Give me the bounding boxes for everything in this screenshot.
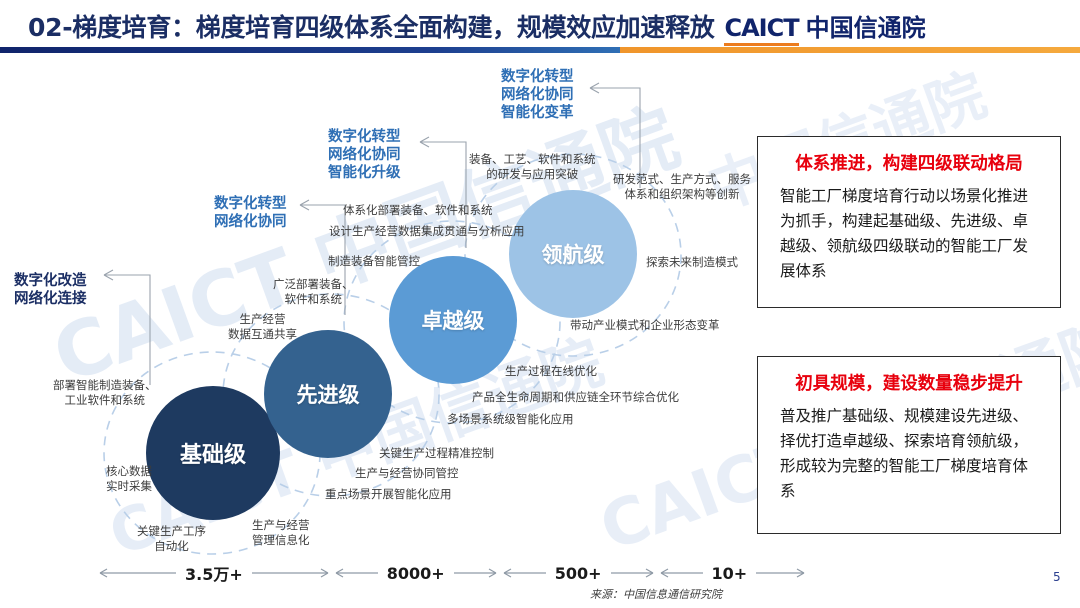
stage-caption-leading-line1: 数字化转型	[501, 68, 574, 86]
circle-advanced-label: 先进级	[297, 379, 360, 409]
stage-caption-leading-line3: 智能化变革	[501, 104, 574, 122]
stage-caption-base-line1: 数字化改造	[14, 272, 87, 290]
label-adv-wide-deploy: 广泛部署装备、 软件和系统	[273, 277, 354, 307]
info-card-scale-title: 初具规模，建设数量稳步提升	[758, 370, 1060, 395]
label-exc-equip-control: 制造装备智能管控	[328, 254, 420, 269]
title-row: 02-梯度培育：梯度培育四级体系全面构建，规模效应加速释放 CAICT 中国信通…	[28, 8, 926, 45]
label-lead-breakthrough-line2: 的研发与应用突破	[469, 167, 596, 182]
arrow-left-icon	[657, 566, 703, 580]
label-lead-innovation-line1: 研发范式、生产方式、服务	[613, 172, 751, 187]
label-lead-future-mode: 探索未来制造模式	[646, 255, 738, 270]
arrow-right-icon	[756, 566, 808, 580]
label-exc-lifecycle: 产品全生命周期和供应链全环节综合优化	[472, 390, 679, 405]
label-base-mgmt-info-line1: 生产与经营	[252, 518, 310, 533]
circle-base-label: 基础级	[180, 437, 246, 469]
label-adv-scene-apply: 重点场景开展智能化应用	[325, 487, 452, 502]
page-title: 02-梯度培育：梯度培育四级体系全面构建，规模效应加速释放	[28, 8, 714, 44]
stage-caption-leading: 数字化转型 网络化协同 智能化变革	[501, 68, 574, 122]
label-exc-design-data: 设计生产经营数据集成贯通与分析应用	[329, 224, 525, 239]
scale-segment-advanced: 8000+	[332, 564, 500, 583]
caict-logo: CAICT 中国信通院	[724, 8, 925, 45]
scale-value-advanced: 8000+	[378, 564, 454, 583]
caict-logo-cn: 中国信通院	[806, 8, 926, 43]
scale-segment-excellent: 500+	[500, 564, 657, 583]
info-card-scale-body: 普及推广基础级、规模建设先进级、择优打造卓越级、探索培育领航级，形成较为完整的智…	[780, 404, 1042, 504]
label-lead-breakthrough-line1: 装备、工艺、软件和系统	[469, 152, 596, 167]
label-base-deploy-line2: 工业软件和系统	[53, 393, 157, 408]
label-base-key-process: 关键生产工序 自动化	[137, 524, 206, 554]
arrow-left-icon	[332, 566, 378, 580]
label-adv-precise-control: 关键生产过程精准控制	[379, 446, 494, 461]
stage-caption-excellent-line2: 网络化协同	[328, 146, 401, 164]
label-exc-multi-scene: 多场景系统级智能化应用	[447, 412, 574, 427]
stage-caption-advanced-line2: 网络化协同	[214, 213, 287, 231]
info-card-scale: 初具规模，建设数量稳步提升 普及推广基础级、规模建设先进级、择优打造卓越级、探索…	[757, 356, 1061, 534]
scale-value-leading: 10+	[703, 564, 757, 583]
stage-caption-advanced-line1: 数字化转型	[214, 195, 287, 213]
stage-caption-base: 数字化改造 网络化连接	[14, 272, 87, 308]
stage-caption-advanced: 数字化转型 网络化协同	[214, 195, 287, 231]
circle-leading-label: 领航级	[542, 239, 605, 269]
label-lead-innovation-line2: 体系和组织架构等创新	[613, 187, 751, 202]
label-base-deploy: 部署智能制造装备、 工业软件和系统	[53, 378, 157, 408]
circle-excellent-label: 卓越级	[422, 305, 485, 335]
arrow-left-icon	[96, 566, 176, 580]
scale-value-base: 3.5万+	[176, 561, 252, 585]
label-adv-coordination: 生产与经营协同管控	[355, 466, 459, 481]
arrow-right-icon	[454, 566, 500, 580]
label-lead-breakthrough: 装备、工艺、软件和系统 的研发与应用突破	[469, 152, 596, 182]
arrow-left-icon	[500, 566, 546, 580]
stage-caption-leading-line2: 网络化协同	[501, 86, 574, 104]
arrow-right-icon	[611, 566, 657, 580]
circle-advanced-level[interactable]: 先进级	[264, 330, 392, 458]
label-adv-data-share-line2: 数据互通共享	[228, 327, 297, 342]
circle-excellent-level[interactable]: 卓越级	[389, 256, 517, 384]
stage-caption-excellent-line1: 数字化转型	[328, 128, 401, 146]
stage-caption-excellent-line3: 智能化升级	[328, 164, 401, 182]
info-card-system-body: 智能工厂梯度培育行动以场景化推进为抓手，构建起基础级、先进级、卓越级、领航级四级…	[780, 184, 1042, 284]
label-lead-innovation: 研发范式、生产方式、服务 体系和组织架构等创新	[613, 172, 751, 202]
arrow-right-icon	[252, 566, 332, 580]
label-exc-system-deploy: 体系化部署装备、软件和系统	[343, 203, 493, 218]
label-base-mgmt-info-line2: 管理信息化	[252, 533, 310, 548]
label-base-core-data-line2: 实时采集	[106, 479, 152, 494]
label-adv-data-share-line1: 生产经营	[228, 312, 297, 327]
label-base-core-data-line1: 核心数据	[106, 464, 152, 479]
info-card-system-title: 体系推进，构建四级联动格局	[758, 150, 1060, 175]
label-lead-drive-industry: 带动产业模式和企业形态变革	[570, 318, 720, 333]
circle-leading-level[interactable]: 领航级	[509, 190, 637, 318]
scale-row: 3.5万+ 8000+	[96, 560, 736, 586]
slide-header: 02-梯度培育：梯度培育四级体系全面构建，规模效应加速释放 CAICT 中国信通…	[0, 0, 1080, 50]
circle-base-level[interactable]: 基础级	[146, 386, 280, 520]
scale-value-excellent: 500+	[546, 564, 611, 583]
scale-segment-base: 3.5万+	[96, 561, 332, 585]
label-base-key-process-line2: 自动化	[137, 539, 206, 554]
page-number: 5	[1053, 570, 1061, 584]
slide-root: 02-梯度培育：梯度培育四级体系全面构建，规模效应加速释放 CAICT 中国信通…	[0, 0, 1080, 608]
scale-segment-leading: 10+	[657, 564, 809, 583]
source-note: 来源：中国信息通信研究院	[590, 586, 722, 602]
label-base-core-data: 核心数据 实时采集	[106, 464, 152, 494]
label-base-mgmt-info: 生产与经营 管理信息化	[252, 518, 310, 548]
label-adv-data-share: 生产经营 数据互通共享	[228, 312, 297, 342]
label-base-key-process-line1: 关键生产工序	[137, 524, 206, 539]
label-base-deploy-line1: 部署智能制造装备、	[53, 378, 157, 393]
stage-caption-excellent: 数字化转型 网络化协同 智能化升级	[328, 128, 401, 182]
caict-logo-abbr: CAICT	[724, 14, 798, 45]
info-card-system: 体系推进，构建四级联动格局 智能工厂梯度培育行动以场景化推进为抓手，构建起基础级…	[757, 136, 1061, 308]
label-adv-wide-deploy-line2: 软件和系统	[273, 292, 354, 307]
label-exc-online-optimize: 生产过程在线优化	[505, 364, 597, 379]
stage-caption-base-line2: 网络化连接	[14, 290, 87, 308]
label-adv-wide-deploy-line1: 广泛部署装备、	[273, 277, 354, 292]
